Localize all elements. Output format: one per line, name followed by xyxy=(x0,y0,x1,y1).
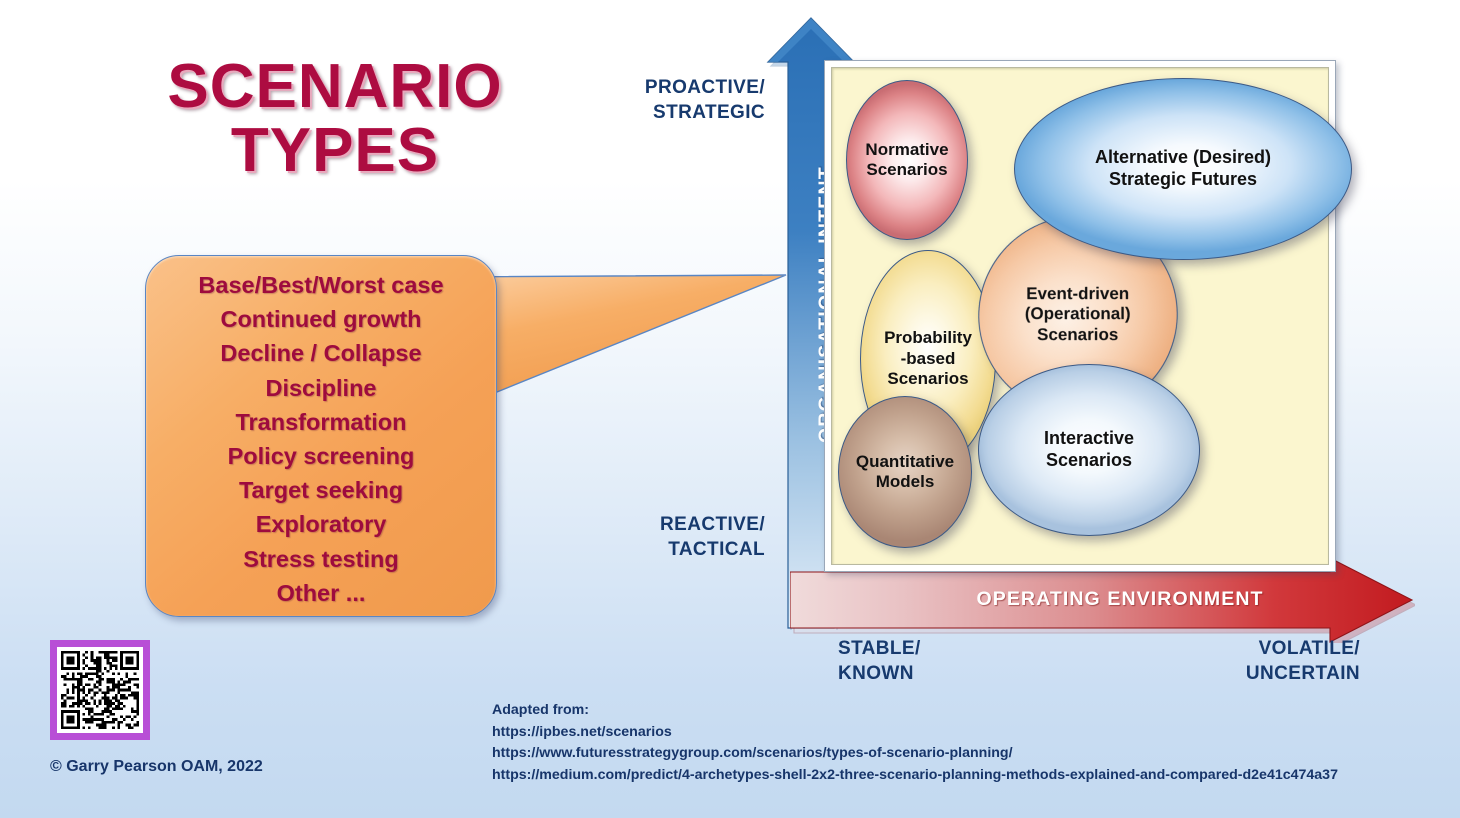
axis-label-volatile-uncertain: VOLATILE/ UNCERTAIN xyxy=(1140,636,1360,686)
citations-block: Adapted from: https://ipbes.net/scenario… xyxy=(492,700,1422,786)
list-item: Base/Best/Worst case xyxy=(146,268,496,302)
title-line-2: TYPES xyxy=(120,119,550,183)
list-item: Continued growth xyxy=(146,302,496,336)
axis-label-line: REACTIVE/ xyxy=(560,512,765,537)
list-item: Transformation xyxy=(146,405,496,439)
axis-label-line: VOLATILE/ xyxy=(1140,636,1360,661)
list-item: Decline / Collapse xyxy=(146,336,496,370)
bubble-label: NormativeScenarios xyxy=(859,140,954,181)
bubble-alternative-desired-strategic-futures[interactable]: Alternative (Desired)Strategic Futures xyxy=(1014,78,1352,260)
axis-label-line: UNCERTAIN xyxy=(1140,661,1360,686)
list-item: Exploratory xyxy=(146,507,496,541)
bubble-label: QuantitativeModels xyxy=(850,452,960,493)
bubble-label: Event-driven(Operational)Scenarios xyxy=(1019,284,1137,345)
list-item: Other ... xyxy=(146,576,496,610)
copyright-notice: © Garry Pearson OAM, 2022 xyxy=(50,758,263,776)
bubble-interactive-scenarios[interactable]: InteractiveScenarios xyxy=(978,364,1200,536)
qr-code-image xyxy=(61,651,139,729)
axis-label-line: KNOWN xyxy=(838,661,1038,686)
slide-canvas: SCENARIO TYPES Base/Best/Worst case Cont… xyxy=(0,0,1460,818)
axis-label-stable-known: STABLE/ KNOWN xyxy=(838,636,1038,686)
citation-link[interactable]: https://medium.com/predict/4-archetypes-… xyxy=(492,765,1422,787)
bubble-normative-scenarios[interactable]: NormativeScenarios xyxy=(846,80,968,240)
page-title: SCENARIO TYPES xyxy=(120,55,550,184)
axis-label-reactive-tactical: REACTIVE/ TACTICAL xyxy=(560,512,765,562)
list-item: Stress testing xyxy=(146,542,496,576)
citation-link[interactable]: https://www.futuresstrategygroup.com/sce… xyxy=(492,743,1422,765)
title-line-1: SCENARIO xyxy=(167,52,502,121)
citations-heading: Adapted from: xyxy=(492,700,1422,722)
bubble-label: Alternative (Desired)Strategic Futures xyxy=(1089,147,1277,190)
citation-link[interactable]: https://ipbes.net/scenarios xyxy=(492,722,1422,744)
list-item: Policy screening xyxy=(146,439,496,473)
bubble-label: Probability-basedScenarios xyxy=(878,328,978,389)
bubble-quantitative-models[interactable]: QuantitativeModels xyxy=(838,396,972,548)
scenario-type-list: Base/Best/Worst case Continued growth De… xyxy=(146,268,496,610)
list-item: Discipline xyxy=(146,371,496,405)
scenario-types-callout: Base/Best/Worst case Continued growth De… xyxy=(140,255,800,625)
axis-label-proactive-strategic: PROACTIVE/ STRATEGIC xyxy=(560,75,765,125)
axis-label-line: STRATEGIC xyxy=(560,100,765,125)
axis-label-line: STABLE/ xyxy=(838,636,1038,661)
list-item: Target seeking xyxy=(146,473,496,507)
qr-code[interactable] xyxy=(50,640,150,740)
axis-label-line: TACTICAL xyxy=(560,537,765,562)
bubble-label: InteractiveScenarios xyxy=(1038,428,1140,471)
callout-box: Base/Best/Worst case Continued growth De… xyxy=(145,255,497,617)
axis-label-line: PROACTIVE/ xyxy=(560,75,765,100)
